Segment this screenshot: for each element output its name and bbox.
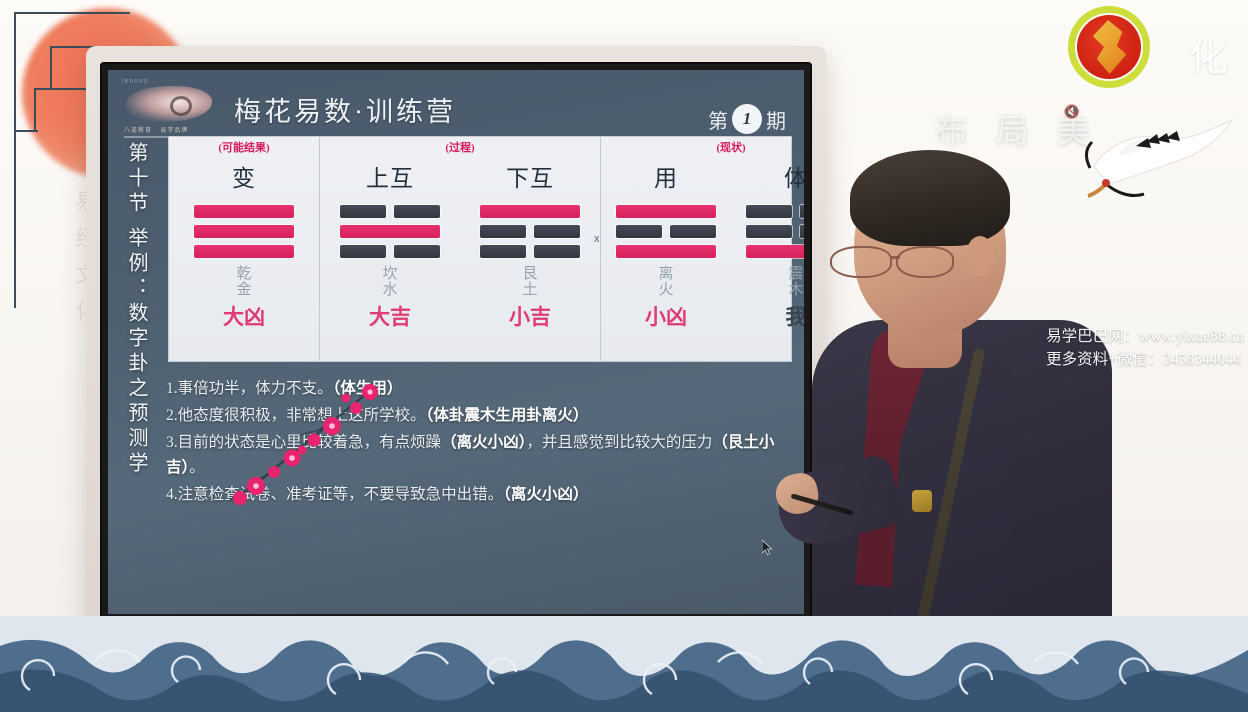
bullet-number: 3. xyxy=(166,434,178,451)
hexagram-column-下互: 下互艮土小吉 xyxy=(460,137,600,361)
screenshot-root: 易 经 文 化 化 布 局 美 🔇 lenovo xyxy=(0,0,1248,712)
column-name: 用 xyxy=(654,159,678,193)
episode-prefix: 第 xyxy=(708,105,728,134)
slide-header: 八道教育 · 易学品牌 梅花易数·训练营 第 1 期 xyxy=(124,82,788,138)
glasses-icon xyxy=(830,246,980,280)
yin-bar-left xyxy=(480,225,526,238)
bullet-number: 1. xyxy=(166,380,178,397)
yang-bar xyxy=(480,205,580,218)
mouse-pointer-icon xyxy=(762,540,773,556)
yang-bar xyxy=(616,245,716,258)
yang-bar xyxy=(194,245,294,258)
trigram-element: 火 xyxy=(658,282,673,298)
watermark-line-2: 更多资料+微信：3458344044 xyxy=(1046,348,1244,371)
yin-bar-right xyxy=(534,225,580,238)
bullet-tag: （离火小凶） xyxy=(503,486,588,503)
bullet-tail-2: 。 xyxy=(189,459,205,476)
watermark-line-1: 易学巴巴网：www.yixue88.cn xyxy=(1046,325,1244,348)
dragon-crest-logo-icon: 八道教育 · 易学品牌 xyxy=(124,84,220,134)
hexagram-lines xyxy=(194,205,294,258)
hexagram-lines xyxy=(616,205,716,258)
hexagram-line-yin xyxy=(480,225,580,238)
trigram-name: 艮 xyxy=(522,266,537,282)
trigram-element: 土 xyxy=(522,282,537,298)
slide-title: 梅花易数·训练营 xyxy=(234,90,456,129)
trigram-meta: 艮土 xyxy=(522,266,537,298)
mute-icon: 🔇 xyxy=(1064,104,1080,120)
yang-bar xyxy=(194,225,294,238)
trigram-element: 水 xyxy=(382,282,397,298)
column-verdict: 小吉 xyxy=(509,301,551,331)
hexagram-line-yang xyxy=(616,205,716,218)
yin-bar-right xyxy=(670,225,716,238)
yang-bar xyxy=(616,205,716,218)
column-name: 上互 xyxy=(366,159,414,193)
column-verdict: 大吉 xyxy=(369,301,411,331)
hexagram-group-1: (过程)上互坎水大吉下互艮土小吉 xyxy=(319,137,600,361)
trigram-name: 乾 xyxy=(236,266,251,282)
hexagram-column-变: 变乾金大凶 xyxy=(169,137,319,361)
hexagram-group-0: (可能结果)变乾金大凶 xyxy=(169,137,319,361)
trigram-element: 金 xyxy=(236,282,251,298)
relation-x-mark: x xyxy=(594,233,600,245)
channel-logo-icon xyxy=(1066,4,1152,90)
brand-wordmark: 化 xyxy=(1188,24,1230,82)
trigram-meta: 乾金 xyxy=(236,266,251,298)
column-name: 变 xyxy=(232,159,256,193)
hexagram-line-yin xyxy=(340,245,440,258)
episode-badge: 第 1 期 xyxy=(708,104,786,134)
display-monitor: lenovo 八道教育 · 易学品牌 梅花易数·训练营 第 1 xyxy=(86,46,826,642)
presentation-slide: 八道教育 · 易学品牌 梅花易数·训练营 第 1 期 第十节 举例：数字卦之预测… xyxy=(108,70,804,614)
hexagram-column-用: x用离火小凶 xyxy=(601,137,731,361)
trigram-name: 离 xyxy=(658,266,673,282)
trigram-meta: 离火 xyxy=(658,266,673,298)
hexagram-line-yang xyxy=(340,225,440,238)
section-vertical-title: 第十节 举例：数字卦之预测学 xyxy=(122,142,151,512)
yin-bar-right xyxy=(394,205,440,218)
column-name: 下互 xyxy=(506,159,554,193)
episode-suffix: 期 xyxy=(766,105,786,134)
site-watermark: 易学巴巴网：www.yixue88.cn 更多资料+微信：3458344044 xyxy=(1046,325,1244,372)
yin-bar-right xyxy=(534,245,580,258)
bullet-number: 4. xyxy=(166,486,178,503)
trigram-meta: 坎水 xyxy=(382,266,397,298)
episode-number: 1 xyxy=(732,104,762,134)
bullet-tag: （离火小凶） xyxy=(441,434,526,451)
yin-bar-right xyxy=(394,245,440,258)
hexagram-column-上互: 上互坎水大吉 xyxy=(320,137,460,361)
plum-blossom-icon xyxy=(204,368,394,518)
hexagram-line-yang xyxy=(194,225,294,238)
bullet-number: 2. xyxy=(166,407,178,424)
yin-bar-left xyxy=(480,245,526,258)
column-verdict: 大凶 xyxy=(223,301,265,331)
hexagram-line-yang xyxy=(194,205,294,218)
bullet-tail: ，并且感觉到比较大的压力 xyxy=(526,434,712,451)
trigram-name: 坎 xyxy=(382,266,397,282)
wave-band-icon xyxy=(0,616,1248,712)
hexagram-line-yin xyxy=(340,205,440,218)
lapel-pin xyxy=(912,490,932,512)
monitor-screen: lenovo 八道教育 · 易学品牌 梅花易数·训练营 第 1 xyxy=(108,70,804,614)
yang-bar xyxy=(194,205,294,218)
yin-bar-left xyxy=(340,205,386,218)
hexagram-lines xyxy=(480,205,580,258)
hexagram-line-yin xyxy=(616,225,716,238)
hexagram-table: (可能结果)变乾金大凶(过程)上互坎水大吉下互艮土小吉(现状)x用离火小凶体震木… xyxy=(168,136,792,362)
hexagram-line-yang xyxy=(194,245,294,258)
bullet-tag: （体卦震木生用卦离火） xyxy=(426,407,589,424)
hexagram-line-yang xyxy=(616,245,716,258)
logo-subtitle: 八道教育 · 易学品牌 xyxy=(124,125,216,134)
hexagram-line-yang xyxy=(480,205,580,218)
column-verdict: 小凶 xyxy=(645,301,687,331)
hexagram-lines xyxy=(340,205,440,258)
yang-bar xyxy=(340,225,440,238)
hexagram-line-yin xyxy=(480,245,580,258)
yin-bar-left xyxy=(340,245,386,258)
yin-bar-left xyxy=(616,225,662,238)
